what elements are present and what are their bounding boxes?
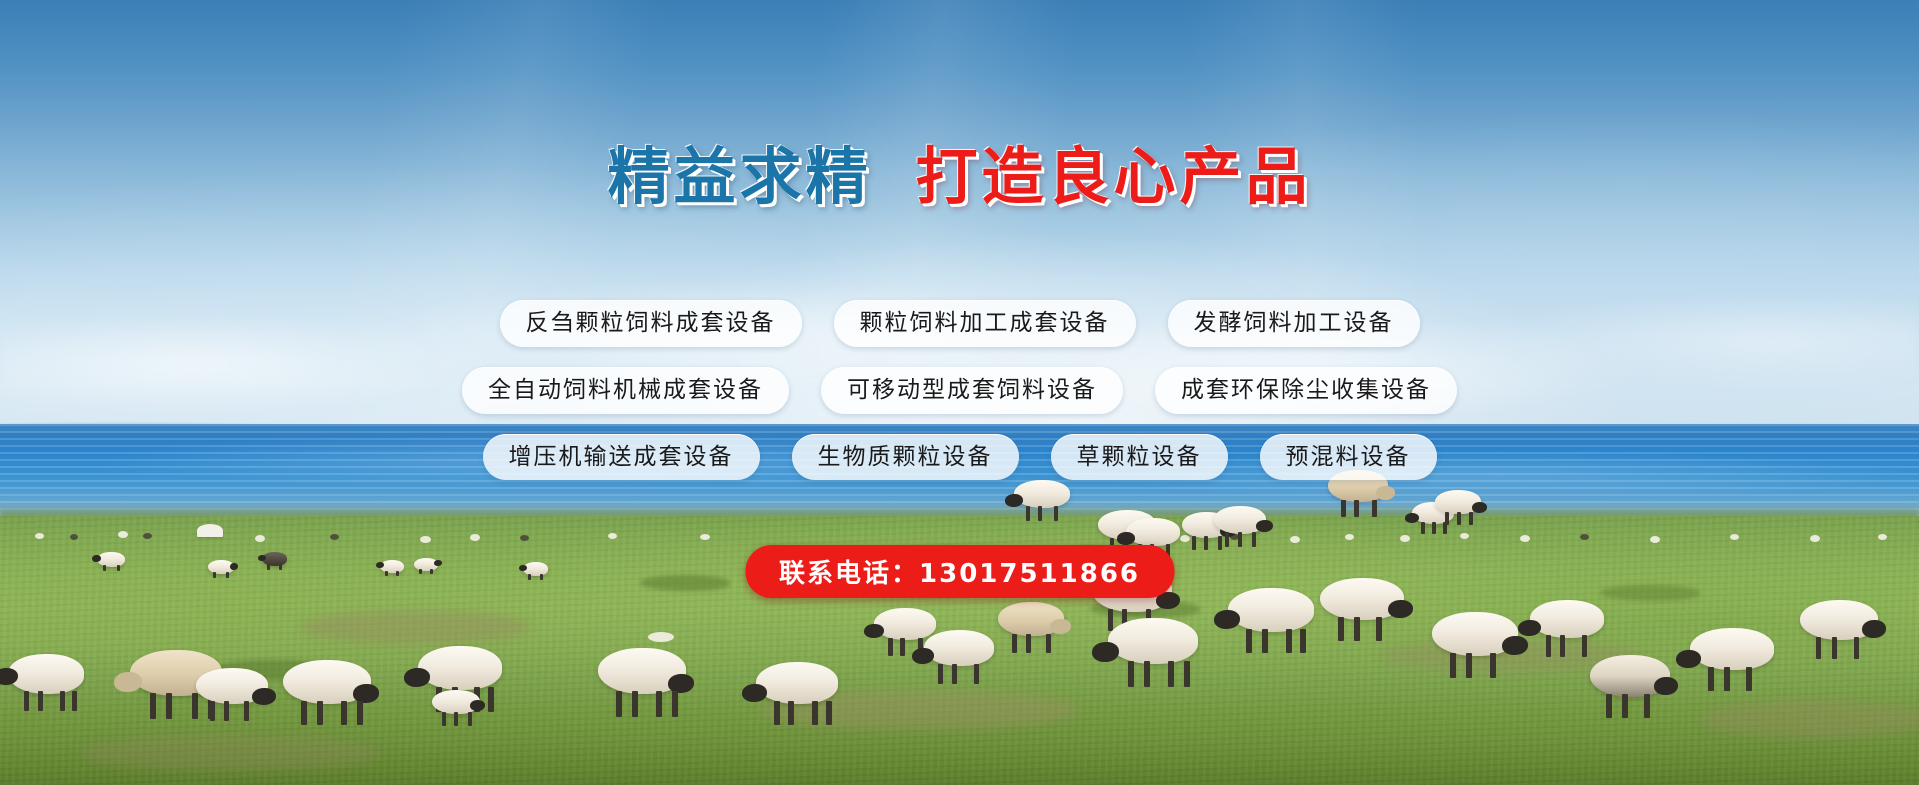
product-category-pills: 反刍颗粒饲料成套设备 颗粒饲料加工成套设备 发酵饲料加工设备 全自动饲料机械成套… xyxy=(0,300,1919,500)
contact-phone-bar[interactable]: 联系电话：13017511866 xyxy=(745,545,1174,598)
headline-blue-text: 精益求精 xyxy=(607,140,871,213)
sheep xyxy=(1108,618,1198,664)
headline-slogan: 精益求精打造良心产品 xyxy=(0,146,1919,208)
sheep xyxy=(97,552,125,567)
distant-sheep xyxy=(648,632,674,642)
distant-sheep xyxy=(1460,533,1469,539)
distant-sheep xyxy=(1290,536,1300,543)
distant-sheep xyxy=(35,533,44,539)
contact-phone-number[interactable]: 13017511866 xyxy=(919,559,1140,589)
pill-biomass-pellet-equipment[interactable]: 生物质颗粒设备 xyxy=(792,434,1019,481)
distant-sheep xyxy=(330,534,339,540)
sheep xyxy=(283,660,371,704)
dirt-patch xyxy=(300,610,530,644)
sheep xyxy=(998,602,1064,636)
distant-sheep xyxy=(1580,534,1589,540)
pill-fermented-feed-processing-equipment[interactable]: 发酵饲料加工设备 xyxy=(1168,300,1420,347)
sheep-lamb xyxy=(432,690,480,714)
grass-tussock xyxy=(640,575,730,591)
pill-row-3: 增压机输送成套设备 生物质颗粒设备 草颗粒设备 预混料设备 xyxy=(0,434,1919,481)
grass-tussock xyxy=(1600,585,1700,601)
dirt-patch xyxy=(1700,700,1919,738)
sheep xyxy=(1228,588,1314,632)
distant-sheep xyxy=(1400,535,1410,542)
sheep xyxy=(1800,600,1878,640)
distant-sheep xyxy=(70,534,78,540)
pill-row-2: 全自动饲料机械成套设备 可移动型成套饲料设备 成套环保除尘收集设备 xyxy=(0,367,1919,414)
sheep xyxy=(1214,506,1266,534)
distant-sheep xyxy=(1878,534,1887,540)
distant-sheep xyxy=(1520,535,1530,542)
sheep xyxy=(418,646,502,690)
distant-sheep xyxy=(608,533,617,539)
distant-sheep xyxy=(1810,535,1820,542)
pill-mobile-complete-feed-equipment[interactable]: 可移动型成套饲料设备 xyxy=(821,367,1123,414)
distant-sheep xyxy=(118,531,128,538)
distant-sheep xyxy=(255,535,265,542)
distant-sheep xyxy=(1345,534,1354,540)
pill-row-1: 反刍颗粒饲料成套设备 颗粒饲料加工成套设备 发酵饲料加工设备 xyxy=(0,300,1919,347)
sheep xyxy=(1690,628,1774,670)
sheep xyxy=(262,552,287,566)
hero-banner: 精益求精打造良心产品 反刍颗粒饲料成套设备 颗粒饲料加工成套设备 发酵饲料加工设… xyxy=(0,0,1919,785)
sheep xyxy=(1126,518,1180,546)
distant-sheep xyxy=(143,533,152,539)
pill-booster-conveying-complete-equipment[interactable]: 增压机输送成套设备 xyxy=(483,434,760,481)
distant-sheep xyxy=(470,534,480,541)
contact-phone-label: 联系电话： xyxy=(779,559,919,589)
sheep xyxy=(208,560,234,574)
distant-sheep xyxy=(1650,536,1660,543)
pill-grass-pellet-equipment[interactable]: 草颗粒设备 xyxy=(1051,434,1228,481)
pill-pellet-feed-processing-complete-equipment[interactable]: 颗粒饲料加工成套设备 xyxy=(834,300,1136,347)
pill-ruminant-pellet-feed-complete-equipment[interactable]: 反刍颗粒饲料成套设备 xyxy=(500,300,802,347)
pill-fully-automatic-feed-machinery-complete-equipment[interactable]: 全自动饲料机械成套设备 xyxy=(462,367,789,414)
distant-sheep xyxy=(1730,534,1739,540)
sheep xyxy=(598,648,686,694)
pill-premix-equipment[interactable]: 预混料设备 xyxy=(1260,434,1437,481)
pill-complete-environmental-dust-collection-equipment[interactable]: 成套环保除尘收集设备 xyxy=(1155,367,1457,414)
sheep xyxy=(196,668,268,704)
sheep xyxy=(1590,655,1670,697)
headline-red-text: 打造良心产品 xyxy=(916,140,1312,213)
distant-sheep xyxy=(420,536,431,543)
sheep xyxy=(1432,612,1518,656)
sheep xyxy=(1530,600,1604,638)
distant-sheep xyxy=(520,535,529,541)
dirt-patch xyxy=(80,735,380,771)
sheep xyxy=(380,560,404,573)
sheep xyxy=(1320,578,1404,620)
sheep xyxy=(924,630,994,666)
sheep xyxy=(523,562,548,576)
sheep xyxy=(414,558,438,571)
sheep xyxy=(756,662,838,704)
distant-sheep xyxy=(700,534,710,540)
yurt xyxy=(197,524,223,537)
sheep xyxy=(8,654,84,694)
